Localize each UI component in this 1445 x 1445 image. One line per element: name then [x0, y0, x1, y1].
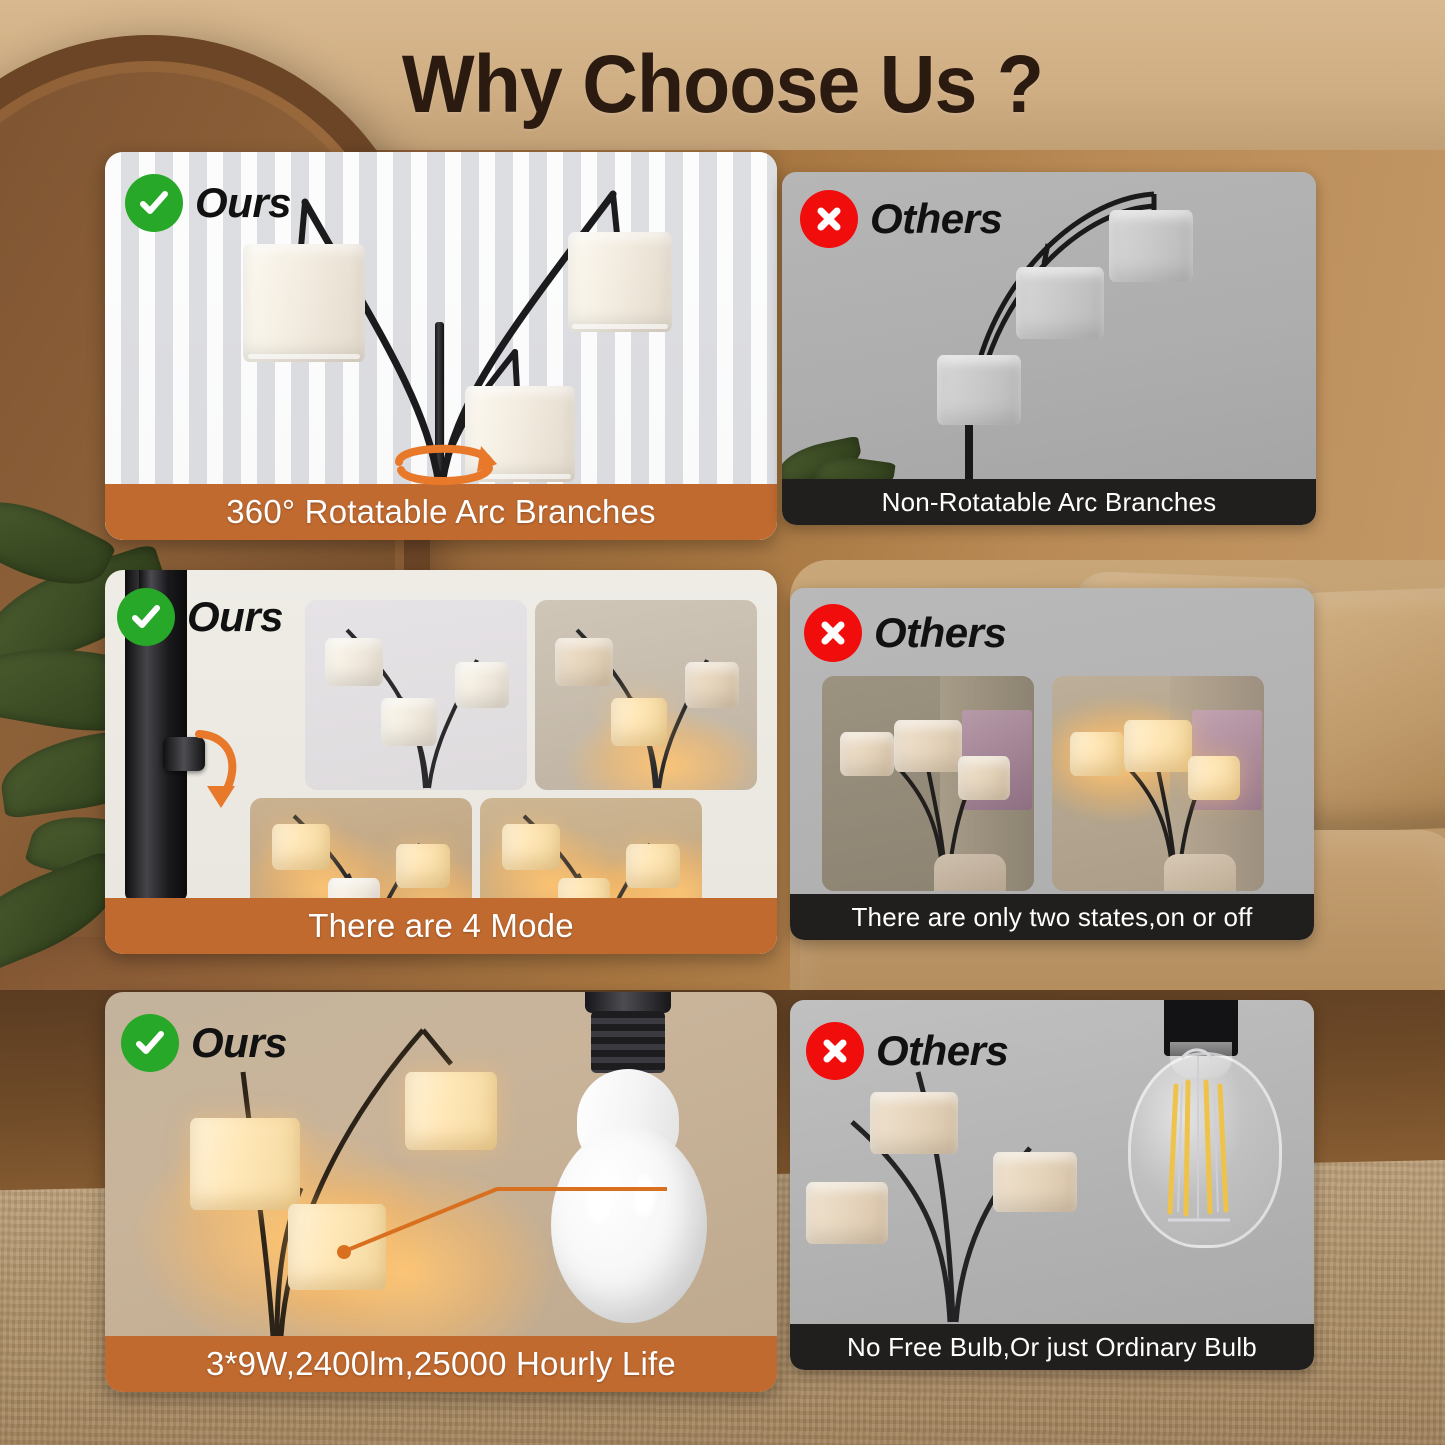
- others-badge-label: Others: [870, 198, 1002, 240]
- lamp-shade: [405, 1072, 497, 1150]
- state-thumbnail: [1052, 676, 1264, 891]
- check-circle-icon: [117, 588, 175, 646]
- ours-badge: Ours: [117, 588, 283, 646]
- row-3-ours-panel[interactable]: 3*9W,2400lm,25000 Hourly Life Ours: [105, 992, 777, 1392]
- lamp-shade: [190, 1118, 300, 1210]
- infographic-stage: Why Choose Us ?: [0, 0, 1445, 1445]
- lamp-shade: [243, 244, 365, 362]
- others-badge: Others: [800, 190, 1002, 248]
- lamp-shade: [870, 1092, 958, 1154]
- lamp-shade: [806, 1182, 888, 1244]
- cross-circle-icon: [804, 604, 862, 662]
- lamp-shade: [993, 1152, 1077, 1212]
- row-3-others-panel[interactable]: No Free Bulb,Or just Ordinary Bulb Other…: [790, 1000, 1314, 1370]
- mode-thumbnail: [535, 600, 757, 790]
- others-badge-label: Others: [874, 612, 1006, 654]
- check-circle-icon: [121, 1014, 179, 1072]
- cross-circle-icon: [800, 190, 858, 248]
- row-3-others-caption: No Free Bulb,Or just Ordinary Bulb: [790, 1324, 1314, 1370]
- callout-line: [341, 1167, 671, 1257]
- page-title: Why Choose Us ?: [43, 38, 1401, 132]
- others-badge-label: Others: [876, 1030, 1008, 1072]
- row-1-others-caption: Non-Rotatable Arc Branches: [782, 479, 1316, 525]
- others-badge: Others: [806, 1022, 1008, 1080]
- row-3-ours-caption: 3*9W,2400lm,25000 Hourly Life: [105, 1336, 777, 1392]
- row-2-ours-panel[interactable]: There are 4 Mode Ours: [105, 570, 777, 954]
- lamp-shade: [1016, 267, 1104, 339]
- ours-badge-label: Ours: [187, 596, 283, 638]
- ours-badge-label: Ours: [191, 1022, 287, 1064]
- state-thumbnail: [822, 676, 1034, 891]
- row-2-others-caption: There are only two states,on or off: [790, 894, 1314, 940]
- rotation-arrow-icon: [385, 434, 505, 497]
- lamp-shade: [568, 232, 672, 332]
- check-circle-icon: [125, 174, 183, 232]
- switch-rotation-arrow-icon: [191, 722, 251, 819]
- callout-dot: [337, 1245, 351, 1259]
- comparison-grid: 360° Rotatable Arc Branches Ours: [0, 0, 1445, 1445]
- ours-badge: Ours: [125, 174, 291, 232]
- lamp-shade: [937, 355, 1021, 425]
- led-bulb: [529, 992, 725, 1327]
- row-2-others-panel[interactable]: There are only two states,on or off Othe…: [790, 588, 1314, 940]
- others-badge: Others: [804, 604, 1006, 662]
- mode-thumbnail: [305, 600, 527, 790]
- row-1-others-panel[interactable]: Non-Rotatable Arc Branches Others: [782, 172, 1316, 525]
- ours-badge-label: Ours: [195, 182, 291, 224]
- row-2-ours-caption: There are 4 Mode: [105, 898, 777, 954]
- row-1-ours-panel[interactable]: 360° Rotatable Arc Branches Ours: [105, 152, 777, 540]
- edison-filament-bulb: [1108, 1000, 1290, 1304]
- cross-circle-icon: [806, 1022, 864, 1080]
- lamp-shade: [1109, 210, 1193, 282]
- ours-badge: Ours: [121, 1014, 287, 1072]
